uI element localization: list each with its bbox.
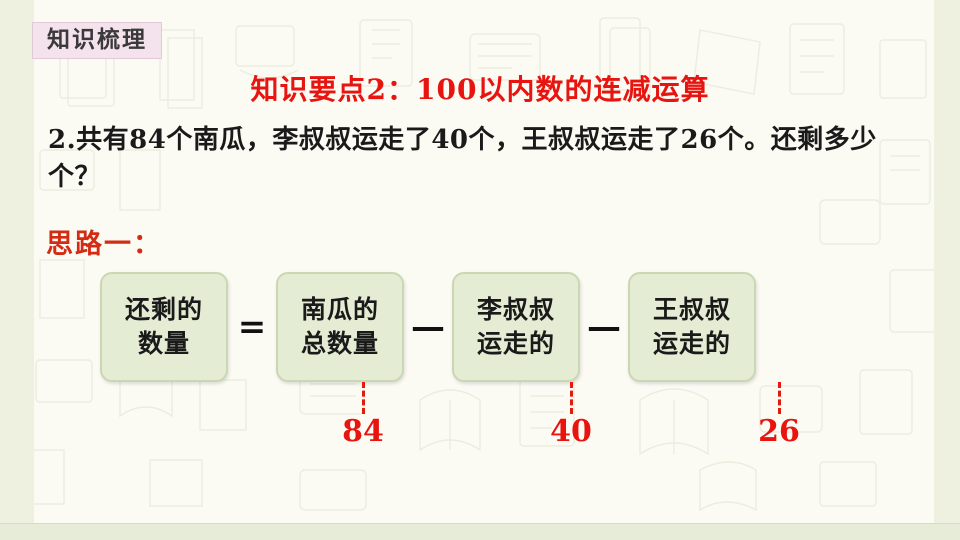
connector-line-84	[362, 382, 365, 414]
approach-label: 思路一：	[46, 222, 162, 261]
value-40: 40	[536, 414, 606, 449]
term-box-uncle-wang: 王叔叔 运走的	[628, 272, 756, 382]
connector-line-40	[570, 382, 573, 414]
value-26: 26	[744, 414, 814, 449]
value-84: 84	[328, 414, 398, 449]
term-line-2: 运走的	[477, 327, 555, 361]
section-tag: 知识梳理	[32, 22, 162, 59]
term-box-remaining: 还剩的 数量	[100, 272, 228, 382]
connector-line-26	[778, 382, 781, 414]
page-title: 知识要点2：100以内数的连减运算	[0, 68, 960, 108]
term-box-total: 南瓜的 总数量	[276, 272, 404, 382]
equation-row: 还剩的 数量 = 南瓜的 总数量 — 李叔叔 运走的 — 王叔叔 运走的	[100, 272, 756, 382]
problem-statement: 2.共有84个南瓜，李叔叔运走了40个，王叔叔运走了26个。还剩多少个？	[48, 122, 912, 196]
operator-minus-2: —	[580, 307, 628, 347]
term-line-2: 数量	[138, 327, 190, 361]
operator-minus-1: —	[404, 307, 452, 347]
operator-equals: =	[228, 307, 276, 347]
term-line-1: 南瓜的	[301, 293, 379, 327]
term-line-1: 王叔叔	[653, 293, 731, 327]
term-box-uncle-li: 李叔叔 运走的	[452, 272, 580, 382]
term-line-1: 李叔叔	[477, 293, 555, 327]
term-line-2: 总数量	[301, 327, 379, 361]
term-line-1: 还剩的	[125, 293, 203, 327]
slide: 知识梳理 知识要点2：100以内数的连减运算 2.共有84个南瓜，李叔叔运走了4…	[0, 0, 960, 540]
bottom-decor-bar	[0, 523, 960, 540]
term-line-2: 运走的	[653, 327, 731, 361]
